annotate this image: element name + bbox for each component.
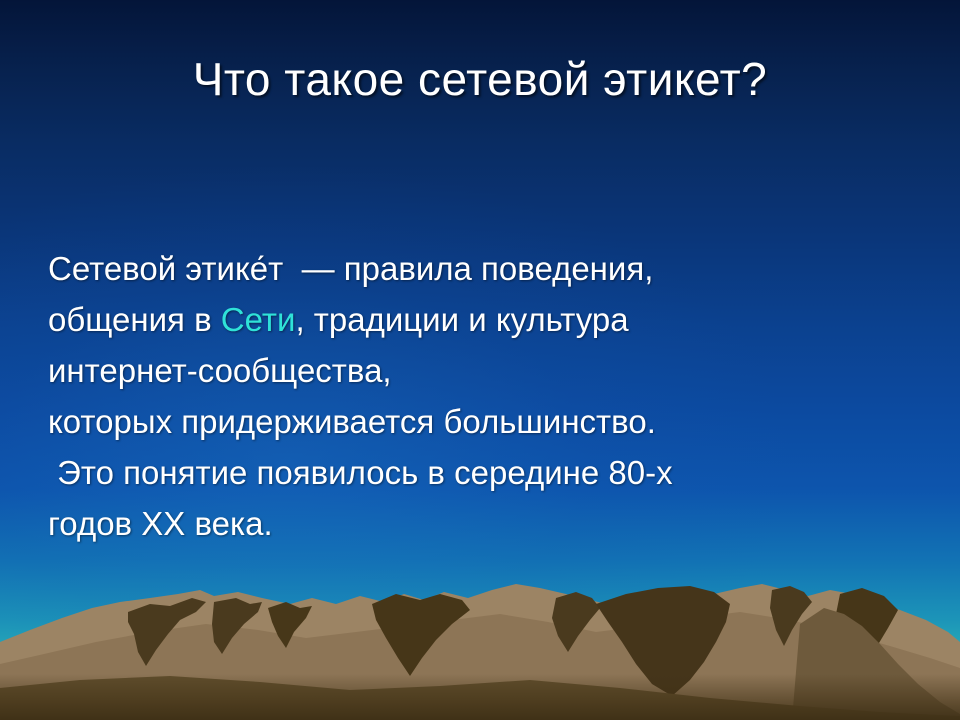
body-line-2-part-b: , традиции и культура bbox=[295, 301, 628, 338]
highlighted-term-seti: Сети bbox=[221, 301, 296, 338]
body-line-2-part-a: общения в bbox=[48, 301, 221, 338]
presentation-slide: Что такое сетевой этикет? Сетевой этике́… bbox=[0, 0, 960, 720]
body-line-1: Сетевой этике́т — правила поведения, bbox=[48, 243, 928, 294]
body-line-3: интернет-сообщества, bbox=[48, 345, 928, 396]
body-line-4: которых придерживается большинство. bbox=[48, 396, 928, 447]
slide-title: Что такое сетевой этикет? bbox=[0, 52, 960, 106]
mountain-silhouette bbox=[0, 580, 960, 720]
slide-body-text: Сетевой этике́т — правила поведения, общ… bbox=[48, 243, 928, 549]
body-line-6: годов XX века. bbox=[48, 498, 928, 549]
body-line-2: общения в Сети, традиции и культура bbox=[48, 294, 928, 345]
body-line-5: Это понятие появилось в середине 80-х bbox=[48, 447, 928, 498]
